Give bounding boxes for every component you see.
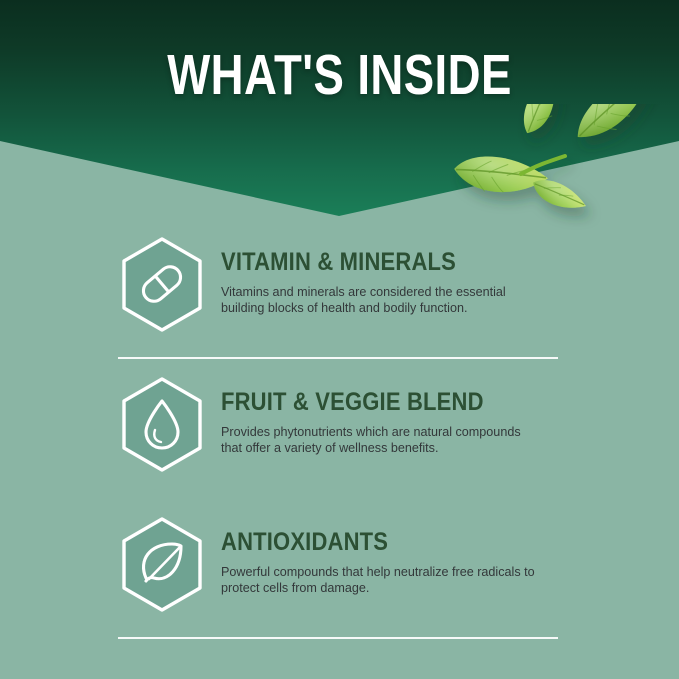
benefit-row-fruit-veggie-blend: FRUIT & VEGGIE BLEND Provides phytonutri… (0, 372, 679, 512)
benefit-description: Powerful compounds that help neutralize … (221, 564, 543, 596)
capsule-pill-icon (118, 236, 206, 333)
benefit-text-block: ANTIOXIDANTS Powerful compounds that hel… (221, 530, 561, 596)
leaf-icon (118, 516, 206, 613)
section-divider (118, 357, 558, 359)
water-droplet-icon (118, 376, 206, 473)
benefit-row-vitamin-minerals: VITAMIN & MINERALS Vitamins and minerals… (0, 232, 679, 372)
benefits-list: VITAMIN & MINERALS Vitamins and minerals… (0, 232, 679, 652)
benefit-text-block: FRUIT & VEGGIE BLEND Provides phytonutri… (221, 390, 561, 456)
header-banner (0, 0, 679, 220)
benefit-description: Vitamins and minerals are considered the… (221, 284, 543, 316)
benefit-text-block: VITAMIN & MINERALS Vitamins and minerals… (221, 250, 561, 316)
benefit-title: FRUIT & VEGGIE BLEND (221, 390, 520, 415)
benefit-title: ANTIOXIDANTS (221, 530, 520, 555)
benefit-row-antioxidants: ANTIOXIDANTS Powerful compounds that hel… (0, 512, 679, 652)
infographic-poster: WHAT'S INSIDE (0, 0, 679, 679)
page-title: WHAT'S INSIDE (68, 47, 611, 104)
benefit-title: VITAMIN & MINERALS (221, 250, 520, 275)
benefit-description: Provides phytonutrients which are natura… (221, 424, 543, 456)
